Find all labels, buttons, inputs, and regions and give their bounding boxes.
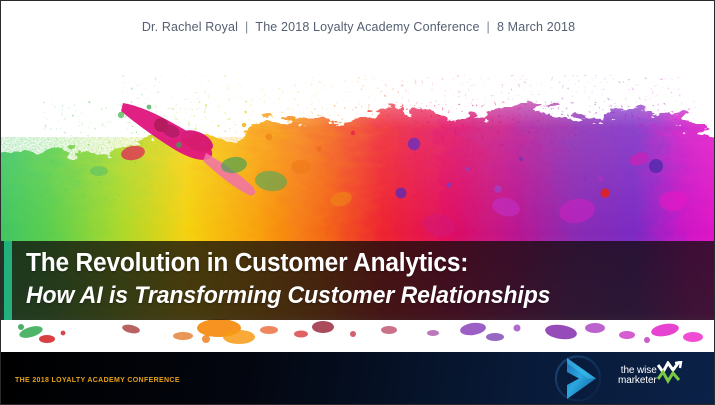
brand-wordmark: the wise marketer	[618, 361, 685, 390]
brand-line-1: the wise	[621, 366, 657, 376]
slide-header: Dr. Rachel Royal|The 2018 Loyalty Academ…	[1, 1, 715, 53]
page-subtitle: How AI is Transforming Customer Relation…	[26, 280, 669, 312]
header-presenter: Dr. Rachel Royal	[142, 20, 238, 34]
presentation-slide: Dr. Rachel Royal|The 2018 Loyalty Academ…	[0, 0, 715, 405]
zigzag-arrow-icon	[657, 361, 685, 390]
brand-line-2: marketer	[618, 376, 657, 386]
header-separator-1: |	[238, 20, 255, 34]
header-date: 8 March 2018	[497, 20, 575, 34]
footer-conference-label: THE 2018 LOYALTY ACADEMY CONFERENCE	[15, 375, 180, 384]
chevron-logo-icon	[549, 352, 617, 405]
title-block: The Revolution in Customer Analytics: Ho…	[26, 247, 696, 313]
header-event: The 2018 Loyalty Academy Conference	[255, 20, 479, 34]
brand-text-lines: the wise marketer	[618, 366, 657, 386]
header-separator-2: |	[480, 20, 497, 34]
header-meta-line: Dr. Rachel Royal|The 2018 Loyalty Academ…	[142, 20, 575, 34]
accent-bar	[4, 241, 12, 320]
page-title: The Revolution in Customer Analytics:	[26, 247, 669, 280]
